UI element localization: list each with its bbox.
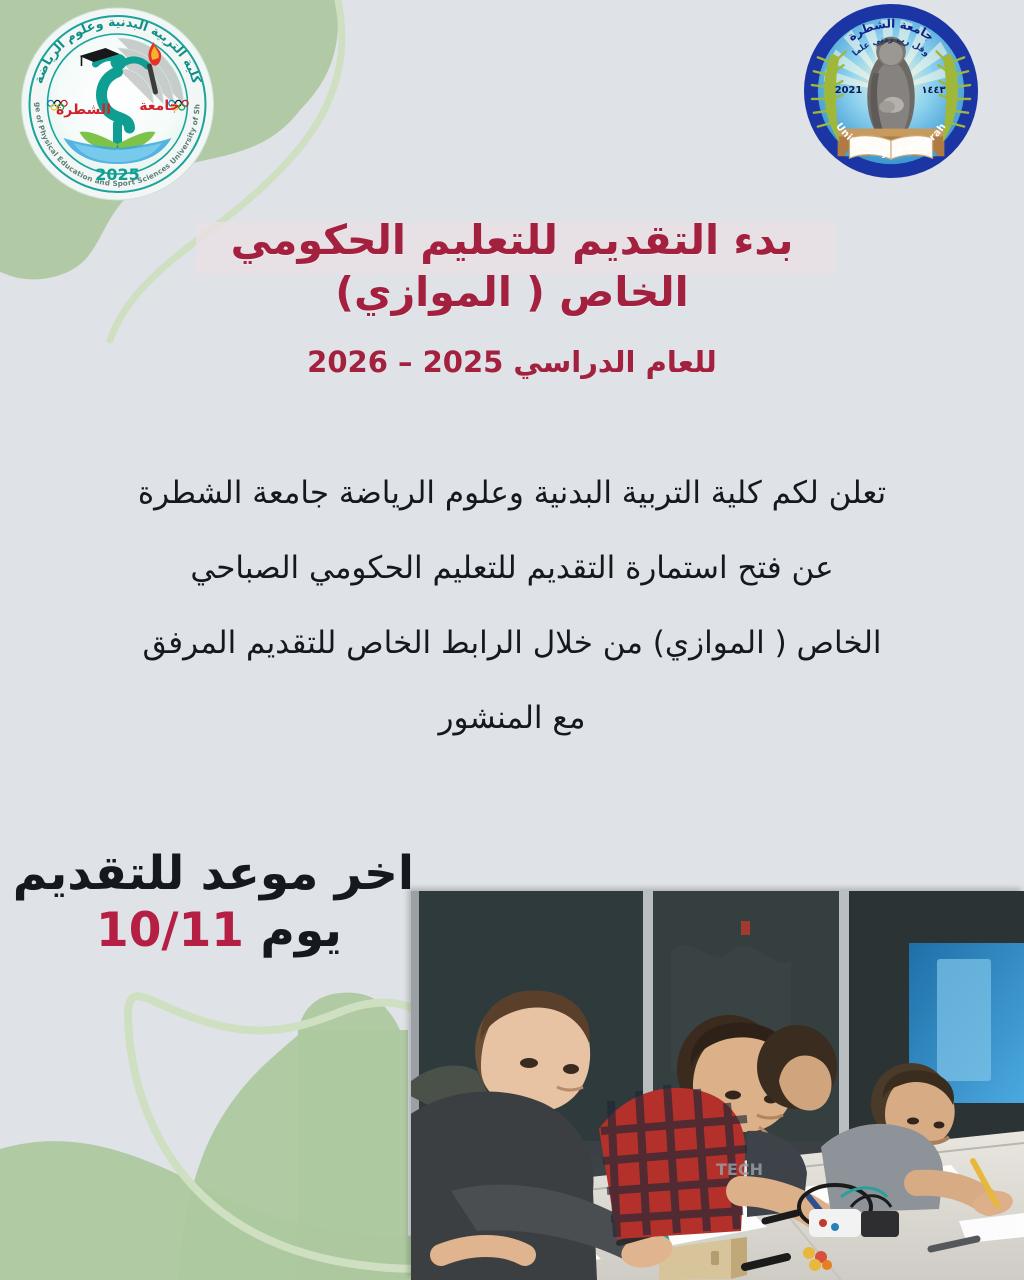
deadline-date: 10/11 <box>96 903 244 958</box>
body-paragraph: تعلن لكم كلية التربية البدنية وعلوم الري… <box>42 478 982 734</box>
academic-year-subhead: للعام الدراسي 2025 – 2026 <box>0 345 1024 380</box>
body-line-3: الخاص ( الموازي) من خلال الرابط الخاص لل… <box>42 628 982 659</box>
university-logo: جامعة الشطرة وقل رب زدني علما University… <box>802 2 980 180</box>
body-line-4: مع المنشور <box>42 703 982 734</box>
headline-line-1: بدء التقديم للتعليم الحكومي <box>0 214 1024 266</box>
body-line-2: عن فتح استمارة التقديم للتعليم الحكومي ا… <box>42 553 982 584</box>
deadline-block: اخر موعد للتقديم يوم 10/11 <box>24 848 414 957</box>
announcement-poster: كلية التربية البدنية وعلوم الرياضة Colle… <box>0 0 1024 1280</box>
logo-center-text-right: جامعة <box>139 98 179 114</box>
students-photo: TECH <box>411 891 1024 1280</box>
deadline-label: اخر موعد للتقديم <box>24 848 414 901</box>
headline-line-2: الخاص ( الموازي) <box>0 266 1024 318</box>
university-logo-year-hijri: ١٤٤٣ <box>921 85 945 96</box>
logo-year: 2025 <box>95 165 140 184</box>
deadline-day-word: يوم <box>260 903 342 958</box>
blob-bottom-left <box>0 1141 420 1280</box>
blob-bottom-left-slab <box>178 993 400 1280</box>
logo-center-text-left: الشطرة <box>56 102 111 118</box>
headline-block: بدء التقديم للتعليم الحكومي الخاص ( المو… <box>0 214 1024 380</box>
deadline-date-line: يوم 10/11 <box>24 905 414 958</box>
body-line-1: تعلن لكم كلية التربية البدنية وعلوم الري… <box>42 478 982 509</box>
university-logo-year-gregorian: 2021 <box>835 85 863 96</box>
blob-bottom-left-rect <box>298 1030 408 1280</box>
curve-bottom-left-b <box>128 996 420 1030</box>
college-logo: كلية التربية البدنية وعلوم الرياضة Colle… <box>10 4 225 204</box>
